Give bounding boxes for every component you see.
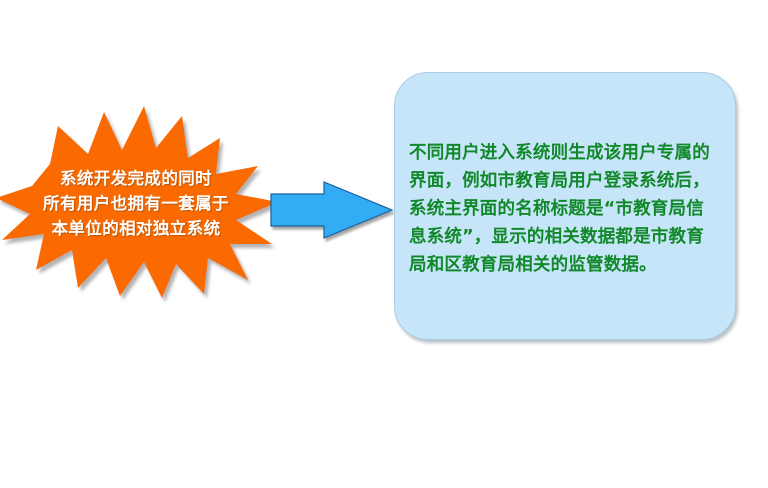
starburst-shape[interactable]: [0, 104, 282, 292]
info-panel[interactable]: 不同用户进入系统则生成该用户专属的 界面，例如市教育局用户登录系统后， 系统主界…: [394, 72, 736, 340]
info-panel-line-3: 系统主界面的名称标题是“市教育局信: [409, 195, 725, 223]
right-arrow-icon[interactable]: [268, 178, 396, 242]
starburst-polygon: [0, 106, 278, 298]
info-panel-text: 不同用户进入系统则生成该用户专属的 界面，例如市教育局用户登录系统后， 系统主界…: [409, 139, 725, 279]
arrow-polygon: [271, 182, 392, 238]
slide-canvas: 系统开发完成的同时 所有用户也拥有一套属于 本单位的相对独立系统 不同用户进入系…: [0, 0, 768, 488]
info-panel-line-4: 息系统”，显示的相关数据都是市教育: [409, 223, 725, 251]
info-panel-line-2: 界面，例如市教育局用户登录系统后，: [409, 167, 725, 195]
info-panel-line-1: 不同用户进入系统则生成该用户专属的: [409, 139, 725, 167]
info-panel-line-5: 局和区教育局相关的监管数据。: [409, 251, 725, 279]
